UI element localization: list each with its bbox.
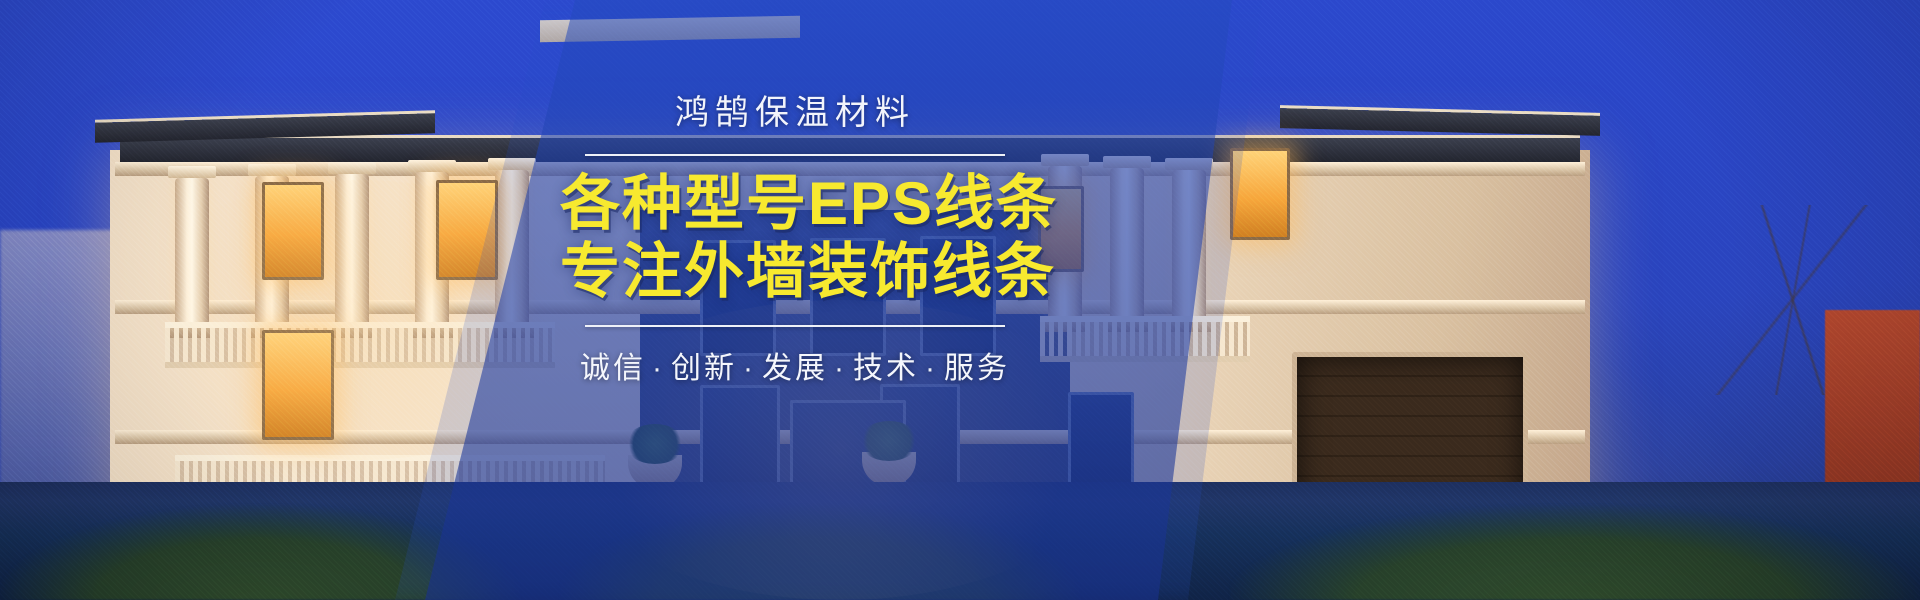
headline-line-2: 专注外墙装饰线条 <box>560 238 1030 305</box>
tagline-item: 诚信 <box>580 352 646 385</box>
tagline-item: 发展 <box>762 352 828 385</box>
headline: 各种型号EPS线条 专注外墙装饰线条 <box>560 170 1030 304</box>
brand-name: 鸿鹄保温材料 <box>560 95 1030 132</box>
banner-text-block: 鸿鹄保温材料 各种型号EPS线条 专注外墙装饰线条 诚信·创新·发展·技术·服务 <box>560 95 1030 387</box>
tagline-separator: · <box>646 352 671 385</box>
divider-bottom <box>585 325 1005 327</box>
tagline: 诚信·创新·发展·技术·服务 <box>560 343 1030 387</box>
tagline-item: 创新 <box>671 352 737 385</box>
tagline-separator: · <box>737 352 762 385</box>
tagline-item: 技术 <box>853 352 919 385</box>
headline-line-1: 各种型号EPS线条 <box>560 170 1030 237</box>
hero-banner: 鸿鹄保温材料 各种型号EPS线条 专注外墙装饰线条 诚信·创新·发展·技术·服务 <box>0 0 1920 600</box>
divider-top <box>585 154 1005 156</box>
tagline-item: 服务 <box>944 352 1010 385</box>
tagline-separator: · <box>919 352 944 385</box>
tagline-separator: · <box>828 352 853 385</box>
